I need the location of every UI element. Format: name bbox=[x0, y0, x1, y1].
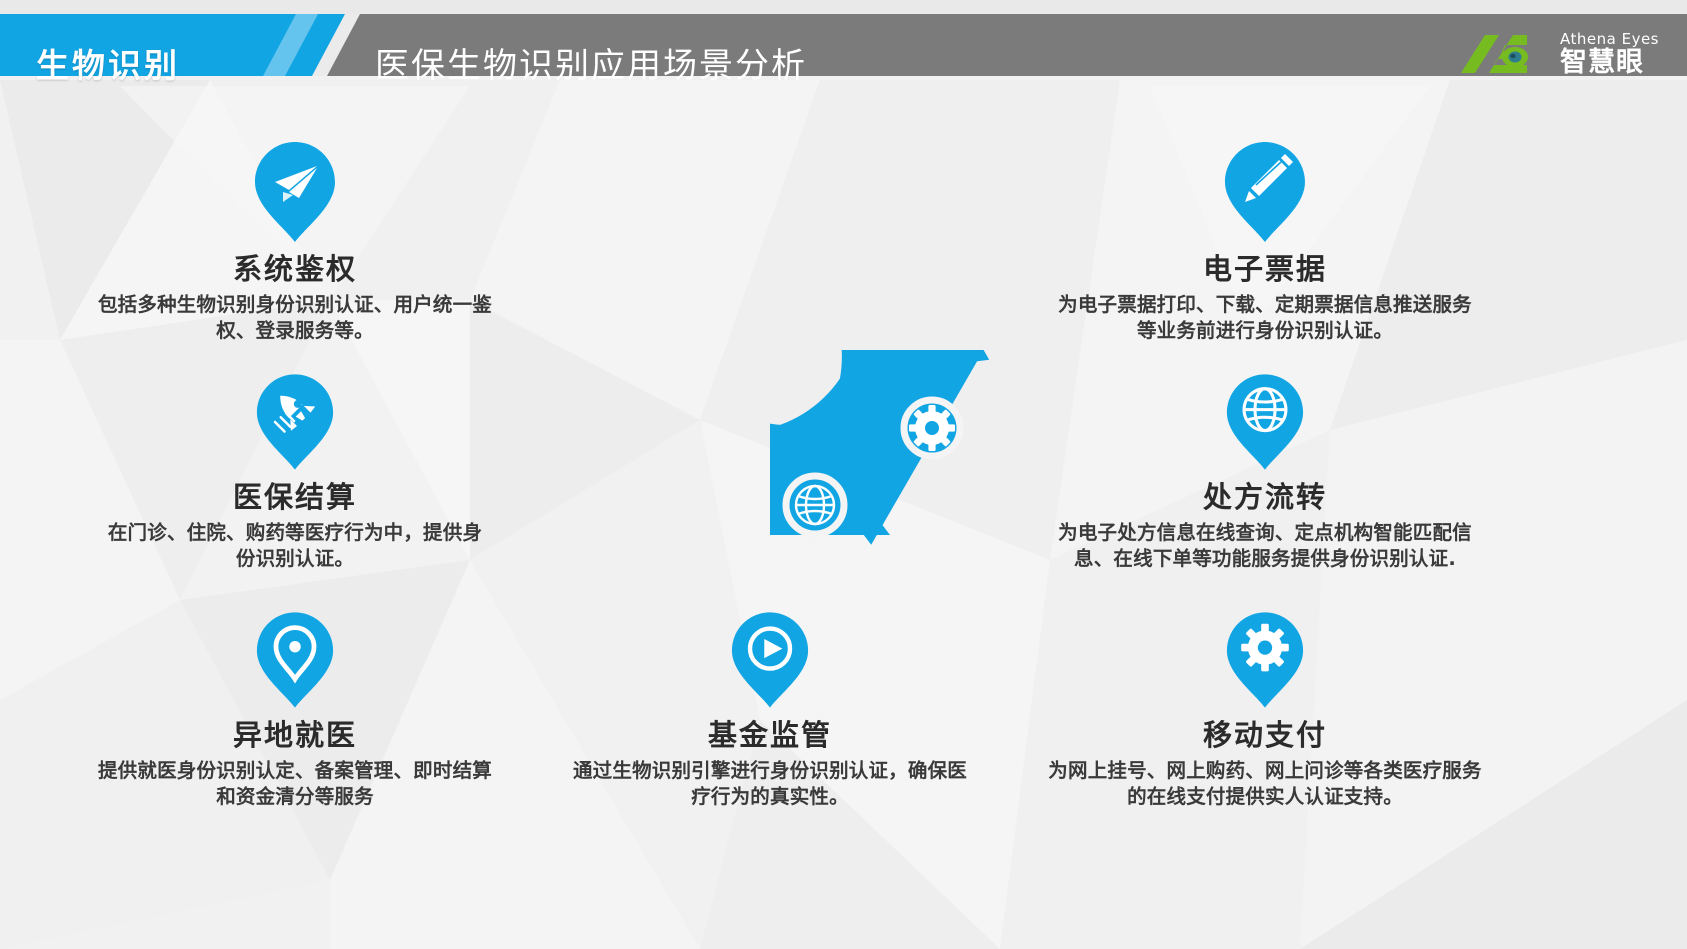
feature-desc: 提供就医身份识别认定、备案管理、即时结算和资金清分等服务 bbox=[75, 758, 515, 811]
headphones-icon bbox=[664, 452, 720, 508]
phone-24h-icon: 24 bbox=[770, 155, 830, 215]
feature-prescription-circulation: 处方流转 为电子处方信息在线查询、定点机构智能匹配信息、在线下单等功能服务提供身… bbox=[1030, 372, 1500, 573]
header-shapes bbox=[0, 14, 1687, 76]
feature-title: 医保结算 bbox=[80, 474, 510, 516]
hexagon-pinwheel-diagram: 24 bbox=[520, 120, 1020, 584]
map-pin-icon bbox=[255, 610, 335, 710]
pencil-icon bbox=[1223, 140, 1307, 244]
feature-mobile-payment: 移动支付 为网上挂号、网上购药、网上问诊等各类医疗服务的在线支付提供实人认证支持… bbox=[1030, 610, 1500, 811]
brand-logo: Athena Eyes 智慧眼 bbox=[1459, 32, 1659, 76]
feature-system-auth: 系统鉴权 包括多种生物识别身份识别认证、用户统一鉴权、登录服务等。 bbox=[60, 140, 530, 345]
feature-remote-medical-treatment: 异地就医 提供就医身份识别认定、备案管理、即时结算和资金清分等服务 bbox=[75, 610, 515, 811]
feature-desc: 通过生物识别引擎进行身份识别认证，确保医疗行为的真实性。 bbox=[560, 758, 980, 811]
play-icon bbox=[900, 260, 956, 316]
page-title: 医保生物识别应用场景分析 bbox=[375, 38, 807, 87]
globe-icon bbox=[786, 476, 844, 534]
paper-plane-icon bbox=[253, 140, 337, 244]
gear-icon bbox=[1225, 610, 1305, 710]
gear-icon bbox=[904, 400, 960, 456]
feature-title: 系统鉴权 bbox=[60, 246, 530, 288]
play-icon bbox=[730, 610, 810, 710]
logo-name-en: Athena Eyes bbox=[1560, 32, 1659, 47]
header-bar: 生物识别 医保生物识别应用场景分析 Athena Eyes 智慧眼 bbox=[0, 14, 1687, 76]
globe-icon bbox=[1225, 372, 1305, 472]
feature-desc: 在门诊、住院、购药等医疗行为中，提供身份识别认证。 bbox=[80, 520, 510, 573]
feature-desc: 包括多种生物识别身份识别认证、用户统一鉴权、登录服务等。 bbox=[60, 292, 530, 345]
ae-eye-logo-icon bbox=[1459, 33, 1551, 75]
feature-title: 处方流转 bbox=[1030, 474, 1500, 516]
feature-medical-insurance-settlement: 医保结算 在门诊、住院、购药等医疗行为中，提供身份识别认证。 bbox=[80, 372, 510, 573]
feature-desc: 为电子票据打印、下载、定期票据信息推送服务等业务前进行身份识别认证。 bbox=[1030, 292, 1500, 345]
feature-desc: 为网上挂号、网上购药、网上问诊等各类医疗服务的在线支付提供实人认证支持。 bbox=[1030, 758, 1500, 811]
logo-name-cn: 智慧眼 bbox=[1560, 49, 1659, 76]
svg-text:24: 24 bbox=[802, 173, 815, 184]
feature-title: 基金监管 bbox=[560, 712, 980, 754]
feature-title: 异地就医 bbox=[75, 712, 515, 754]
rocket-icon bbox=[653, 183, 711, 241]
slide-canvas: 生物识别 医保生物识别应用场景分析 Athena Eyes 智慧眼 bbox=[0, 0, 1687, 949]
feature-title: 移动支付 bbox=[1030, 712, 1500, 754]
header-tag-label: 生物识别 bbox=[36, 39, 180, 87]
feature-electronic-bill: 电子票据 为电子票据打印、下载、定期票据信息推送服务等业务前进行身份识别认证。 bbox=[1030, 140, 1500, 345]
feature-desc: 为电子处方信息在线查询、定点机构智能匹配信息、在线下单等功能服务提供身份识别认证… bbox=[1030, 520, 1500, 573]
play-icon bbox=[582, 284, 638, 340]
feature-fund-supervision: 基金监管 通过生物识别引擎进行身份识别认证，确保医疗行为的真实性。 bbox=[560, 610, 980, 811]
rocket-icon bbox=[255, 372, 335, 472]
feature-title: 电子票据 bbox=[1030, 246, 1500, 288]
